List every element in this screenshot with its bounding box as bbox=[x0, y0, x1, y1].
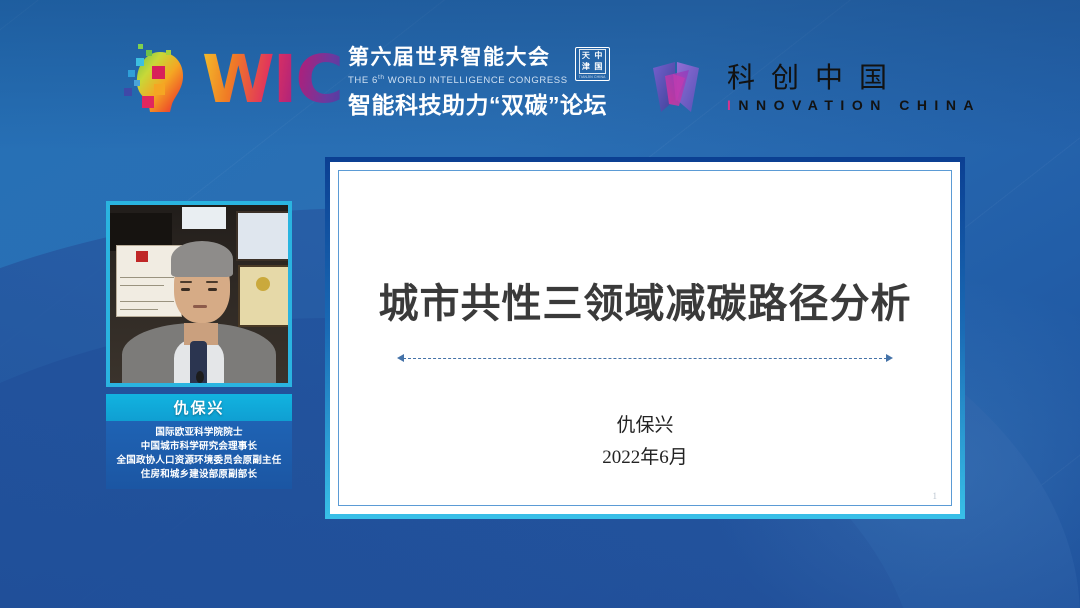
slide-title: 城市共性三领域减碳路径分析 bbox=[339, 271, 951, 329]
congress-title-cn: 第六届世界智能大会 bbox=[348, 46, 568, 70]
speaker-credentials: 国际欧亚科学院院士 中国城市科学研究会理事长 全国政协人口资源环境委员会原副主任… bbox=[106, 421, 292, 489]
seal-char-2: 中 bbox=[594, 52, 602, 60]
event-header: WIC 第六届世界智能大会 THE 6th WORLD INTELLIGENCE… bbox=[0, 0, 1080, 150]
slide-date: 2022年6月 bbox=[339, 442, 951, 469]
slide-content: 城市共性三领域减碳路径分析 仇保兴 2022年6月 1 bbox=[338, 170, 952, 506]
seal-char-4: 国 bbox=[594, 63, 602, 71]
innovation-china-logo: 科创中国 INNOVATION CHINA bbox=[645, 56, 981, 118]
wic-wordmark: WIC bbox=[202, 47, 342, 113]
speaker-name-bar: 仇保兴 bbox=[106, 394, 292, 421]
credential-line: 国际欧亚科学院院士 bbox=[110, 426, 288, 440]
slide-page-number: 1 bbox=[933, 491, 938, 501]
credential-line: 住房和城乡建设部原副部长 bbox=[110, 468, 288, 482]
congress-title-en: THE 6th WORLD INTELLIGENCE CONGRESS bbox=[348, 72, 568, 87]
arrow-right-icon bbox=[886, 354, 893, 362]
wic-logo: WIC bbox=[120, 42, 342, 118]
innovation-china-title-cn: 科创中国 bbox=[727, 62, 981, 94]
innovation-china-title-en: INNOVATION CHINA bbox=[727, 97, 981, 113]
speaker-name: 仇保兴 bbox=[173, 397, 224, 418]
credential-line: 全国政协人口资源环境委员会原副主任 bbox=[110, 454, 288, 468]
credential-line: 中国城市科学研究会理事长 bbox=[110, 440, 288, 454]
congress-title-block: 第六届世界智能大会 THE 6th WORLD INTELLIGENCE CON… bbox=[348, 46, 598, 118]
seal-char-1: 天 bbox=[582, 52, 590, 60]
speaker-video-panel[interactable] bbox=[106, 201, 292, 387]
slide-author: 仇保兴 bbox=[339, 410, 951, 437]
slide-white-margin: 城市共性三领域减碳路径分析 仇保兴 2022年6月 1 bbox=[330, 162, 960, 514]
tianjin-china-seal-icon: 天 中 津 国 TIANJIN CHINA bbox=[575, 47, 610, 81]
speaker-video-feed[interactable] bbox=[110, 205, 288, 383]
forum-title-cn: 智能科技助力“双碳”论坛 bbox=[348, 92, 598, 118]
wic-pixel-head-icon bbox=[120, 42, 198, 118]
seal-char-3: 津 bbox=[582, 63, 590, 71]
innovation-china-butterfly-icon bbox=[645, 56, 707, 118]
slide-frame: 城市共性三领域减碳路径分析 仇保兴 2022年6月 1 bbox=[325, 157, 965, 519]
slide-title-underline bbox=[397, 354, 893, 363]
speaker-name-plate: 仇保兴 国际欧亚科学院院士 中国城市科学研究会理事长 全国政协人口资源环境委员会… bbox=[106, 394, 292, 489]
presentation-stream: WIC 第六届世界智能大会 THE 6th WORLD INTELLIGENCE… bbox=[0, 0, 1080, 608]
seal-subtext: TIANJIN CHINA bbox=[579, 75, 606, 79]
